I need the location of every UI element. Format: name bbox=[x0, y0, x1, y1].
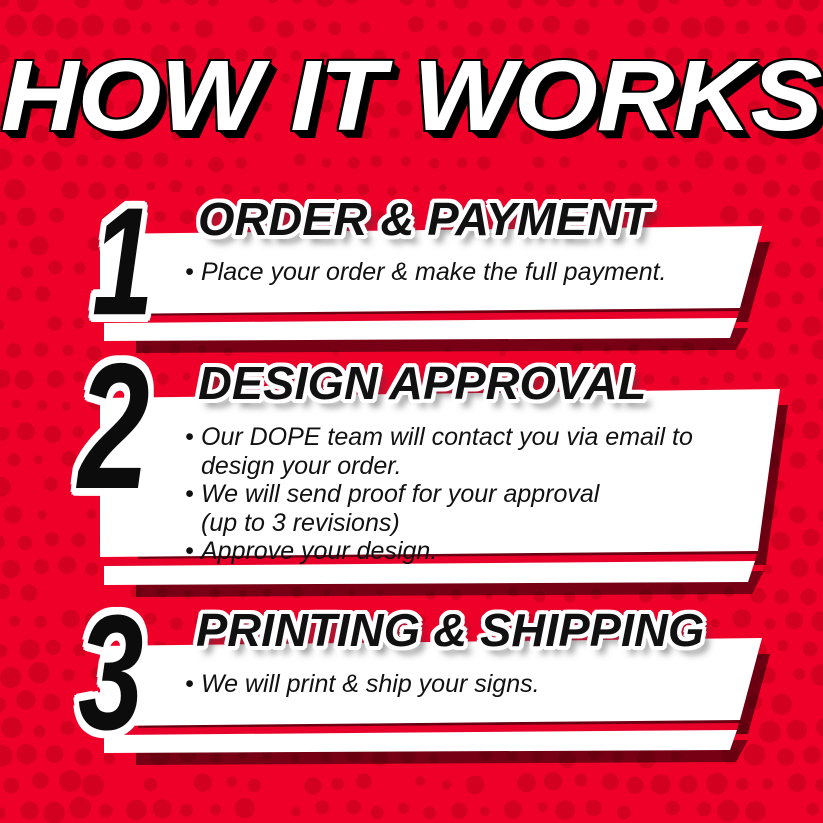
bullet-dot: • bbox=[185, 423, 201, 452]
step-2-body: •Our DOPE team will contact you via emai… bbox=[185, 423, 693, 566]
step-1-number: 1 bbox=[92, 185, 153, 339]
bullet-line-continuation: •(up to 3 revisions) bbox=[185, 509, 693, 538]
step-3-heading: PRINTING & SHIPPING bbox=[196, 607, 704, 653]
step-3-body: •We will print & ship your signs. bbox=[185, 670, 540, 699]
bullet-dot: • bbox=[185, 480, 201, 509]
bullet-text: (up to 3 revisions) bbox=[201, 509, 400, 537]
step-1-heading: ORDER & PAYMENT bbox=[198, 196, 650, 242]
bullet-line-continuation: •design your order. bbox=[185, 452, 693, 481]
poster-title-wrap: HOW IT WORKS bbox=[0, 46, 823, 146]
bullet-text: Place your order & make the full payment… bbox=[201, 258, 667, 286]
bullet-text: Approve your design. bbox=[201, 537, 437, 565]
bullet-line: •Our DOPE team will contact you via emai… bbox=[185, 423, 693, 452]
step-2-number: 2 bbox=[78, 337, 150, 516]
step-2-heading: DESIGN APPROVAL bbox=[198, 360, 646, 406]
how-it-works-poster: HOW IT WORKS 1 ORDER & PAYMENT •Place yo… bbox=[0, 0, 823, 823]
step-3: 3 PRINTING & SHIPPING •We will print & s… bbox=[0, 600, 823, 775]
bullet-line: •We will send proof for your approval bbox=[185, 480, 693, 509]
bullet-line: •We will print & ship your signs. bbox=[185, 670, 540, 699]
poster-title: HOW IT WORKS bbox=[1, 46, 822, 146]
step-1-body: •Place your order & make the full paymen… bbox=[185, 258, 667, 287]
bullet-text: We will send proof for your approval bbox=[201, 480, 599, 508]
bullet-text: Our DOPE team will contact you via email… bbox=[201, 423, 693, 451]
bullet-text: design your order. bbox=[201, 452, 402, 480]
bullet-dot: • bbox=[185, 258, 201, 287]
step-3-number: 3 bbox=[78, 592, 143, 756]
bullet-dot: • bbox=[185, 670, 201, 699]
bullet-line: •Approve your design. bbox=[185, 537, 693, 566]
bullet-text: We will print & ship your signs. bbox=[201, 670, 540, 698]
bullet-dot: • bbox=[185, 537, 201, 566]
bullet-line: •Place your order & make the full paymen… bbox=[185, 258, 667, 287]
step-2: 2 DESIGN APPROVAL •Our DOPE team will co… bbox=[0, 355, 823, 600]
